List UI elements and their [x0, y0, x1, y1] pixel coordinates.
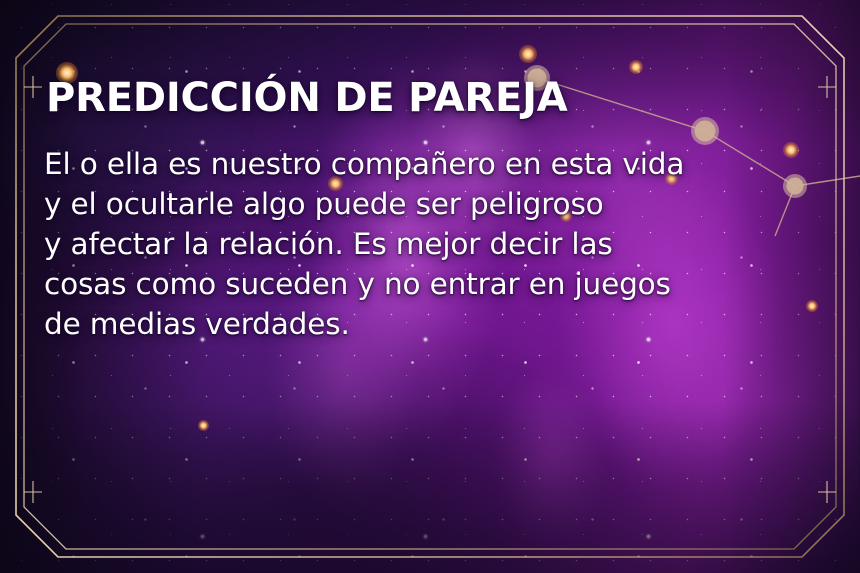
prediction-body-text: El o ella es nuestro compañero en esta v… [44, 144, 832, 344]
corner-sparkle-icon [24, 76, 42, 98]
corner-sparkle-icon [24, 481, 42, 503]
page-title: PREDICCIÓN DE PAREJA [46, 78, 832, 118]
glow-star-icon [629, 60, 643, 74]
glow-star-icon [519, 45, 537, 63]
card-content: PREDICCIÓN DE PAREJA El o ella es nuestr… [44, 78, 832, 513]
prediction-card: PREDICCIÓN DE PAREJA El o ella es nuestr… [0, 0, 860, 573]
